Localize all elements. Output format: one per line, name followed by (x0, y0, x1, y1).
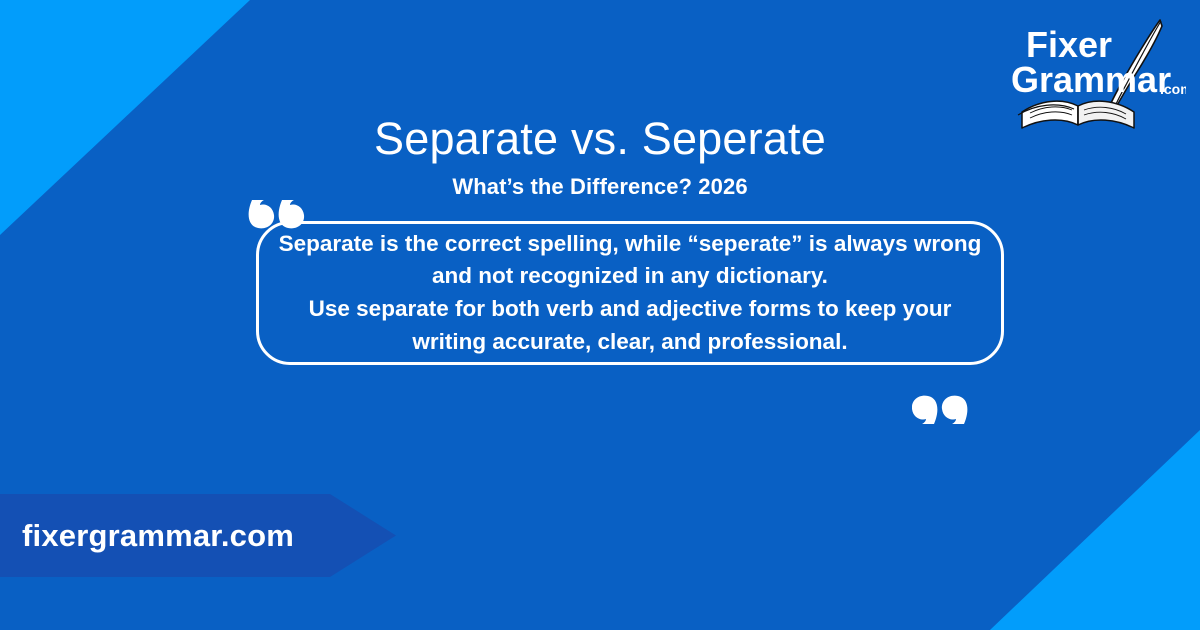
page-subtitle: What’s the Difference? 2026 (0, 174, 1200, 200)
logo-text-tld: .com (1160, 81, 1186, 97)
closing-quote-icon (912, 382, 972, 428)
page-title: Separate vs. Seperate (0, 114, 1200, 164)
url-text: fixergrammar.com (22, 494, 294, 577)
logo-text-grammar: Grammar (1011, 59, 1171, 100)
quote-text: Separate is the correct spelling, while … (259, 228, 1001, 359)
url-banner[interactable]: fixergrammar.com (0, 494, 396, 577)
social-card: Fixer Grammar .com Separate vs. Seperate… (0, 0, 1200, 630)
quote-box: Separate is the correct spelling, while … (256, 221, 1004, 365)
bottom-right-accent-triangle (990, 430, 1200, 630)
